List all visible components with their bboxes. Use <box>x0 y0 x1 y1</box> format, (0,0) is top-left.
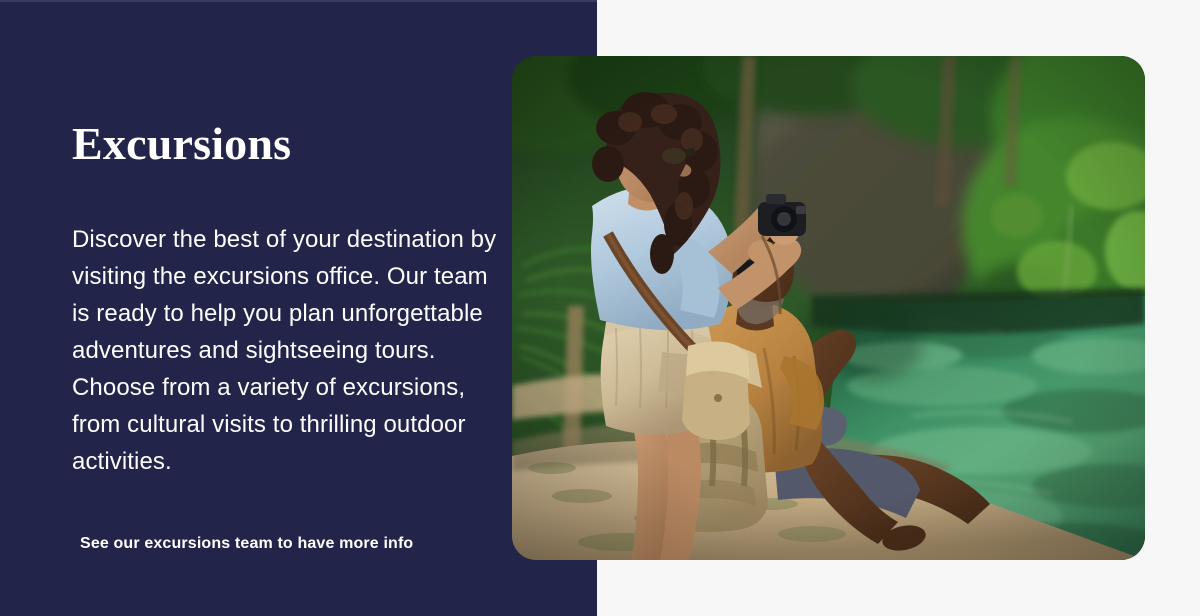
excursions-photo-card <box>512 56 1145 560</box>
panel-top-hairline <box>0 0 597 2</box>
excursions-photo <box>512 56 1145 560</box>
page-title: Excursions <box>72 118 291 170</box>
panel-content: Excursions Discover the best of your des… <box>72 0 542 616</box>
excursions-info-panel: Excursions Discover the best of your des… <box>0 0 597 616</box>
panel-body-text: Discover the best of your destination by… <box>72 221 504 480</box>
excursions-team-cta-link[interactable]: See our excursions team to have more inf… <box>80 533 413 555</box>
